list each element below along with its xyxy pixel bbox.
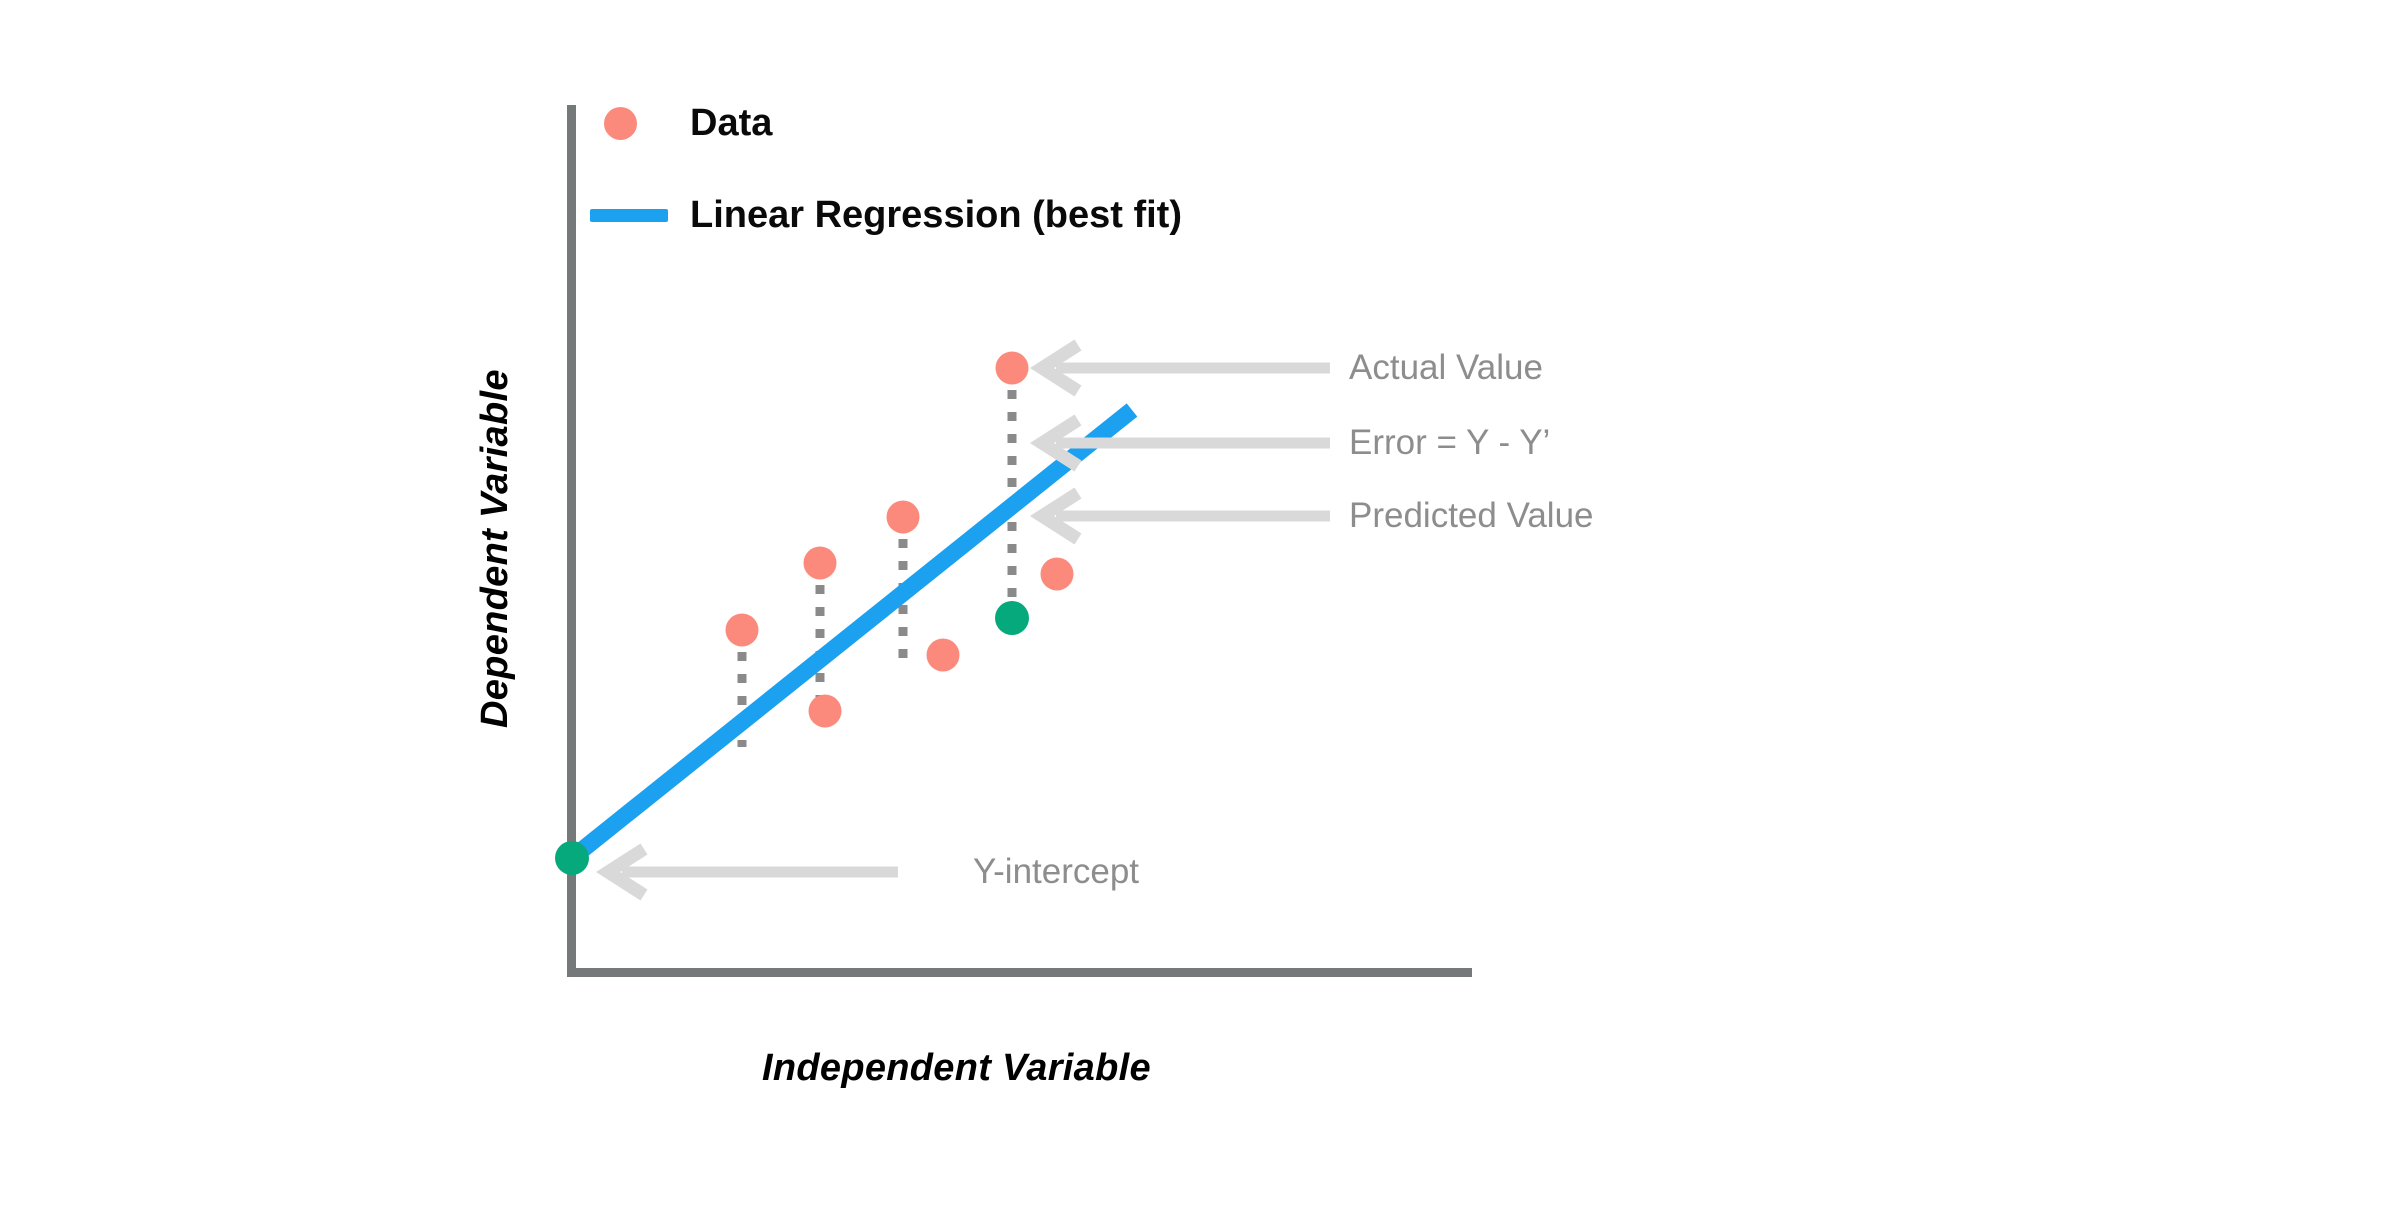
data-point[interactable] <box>996 352 1029 385</box>
plot-graphics-layer <box>0 0 2400 1206</box>
line-marker-icon <box>590 209 668 222</box>
arrow-left-icon <box>608 849 644 895</box>
arrow-left-icon <box>1042 420 1078 466</box>
annotation-label-actual-value: Actual Value <box>1349 348 1543 388</box>
data-point[interactable] <box>726 614 759 647</box>
legend-item-data[interactable]: Data <box>604 104 772 142</box>
data-point[interactable] <box>1041 558 1074 591</box>
y-axis-line <box>567 105 576 977</box>
regression-line <box>572 410 1132 858</box>
x-axis-title: Independent Variable <box>762 1047 1151 1090</box>
annotation-arrow <box>1042 493 1330 539</box>
data-point[interactable] <box>927 639 960 672</box>
plot-overlay-layer: Actual ValueError = Y - Y’Predicted Valu… <box>0 0 2400 1206</box>
predicted-value-point[interactable] <box>995 601 1029 635</box>
annotation-label-predicted-value: Predicted Value <box>1349 496 1594 536</box>
annotation-arrow <box>1042 420 1330 466</box>
legend-label-regression: Linear Regression (best fit) <box>690 196 1182 234</box>
annotation-arrow <box>1042 345 1330 391</box>
arrow-left-icon <box>1042 345 1078 391</box>
x-axis-line <box>567 968 1472 977</box>
circle-marker-icon <box>604 107 637 140</box>
chart-canvas: Dependent Variable Independent Variable … <box>0 0 2400 1206</box>
y-axis-title: Dependent Variable <box>474 369 517 728</box>
arrow-left-icon <box>1042 493 1078 539</box>
annotation-label-y-intercept: Y-intercept <box>973 852 1139 892</box>
data-point[interactable] <box>809 695 842 728</box>
annotation-arrow <box>608 849 898 895</box>
data-point[interactable] <box>887 501 920 534</box>
legend-label-data: Data <box>690 104 772 142</box>
annotation-label-error: Error = Y - Y’ <box>1349 423 1550 463</box>
data-point[interactable] <box>804 547 837 580</box>
legend-item-regression[interactable]: Linear Regression (best fit) <box>590 196 1182 234</box>
